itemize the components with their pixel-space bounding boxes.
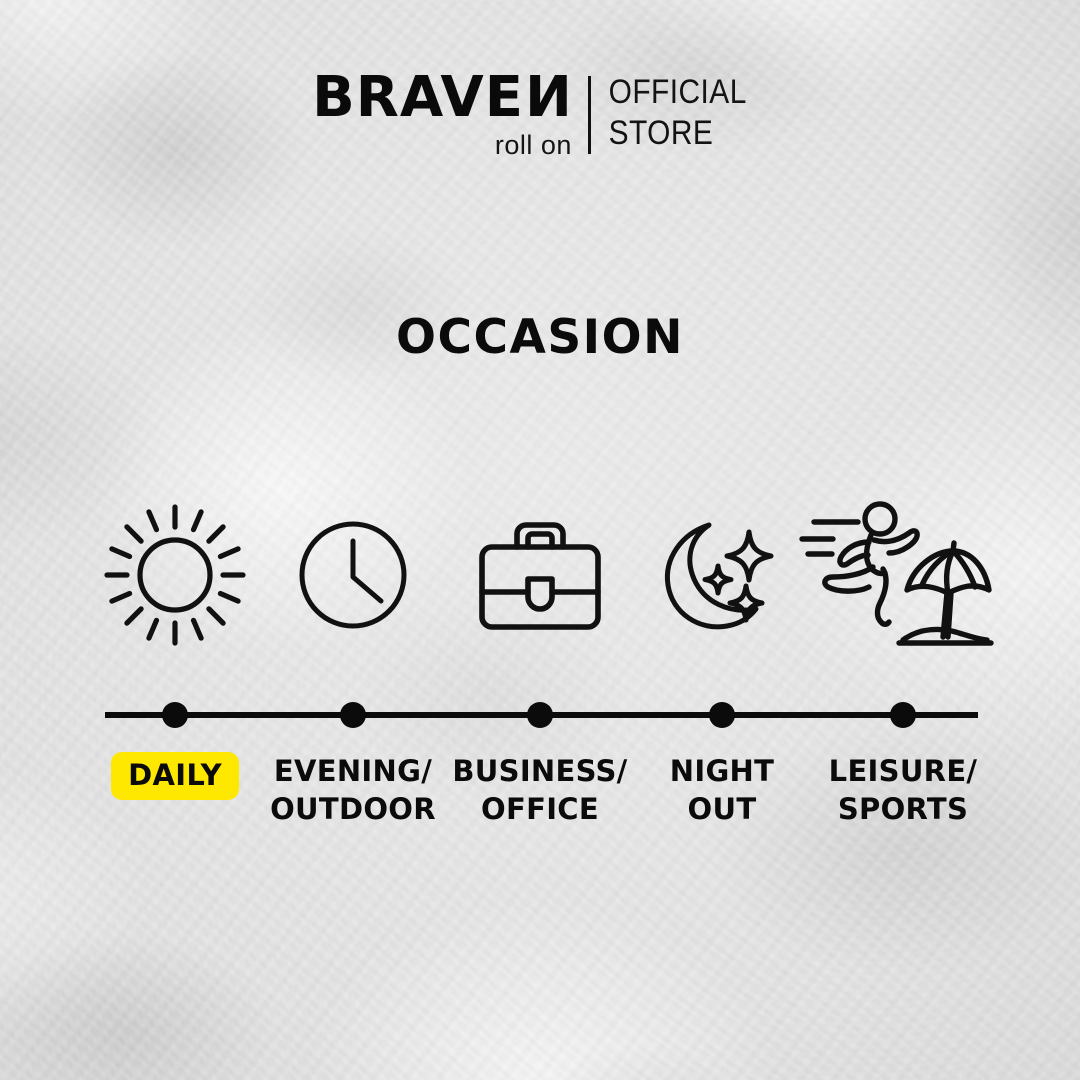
brand-header: BRAVEN roll on OFFICIAL STORE: [0, 72, 1080, 161]
official-store-line-1: OFFICIAL: [608, 72, 746, 113]
timeline-dot-evening-outdoor[interactable]: [340, 702, 366, 728]
timeline-dot-night-out[interactable]: [709, 702, 735, 728]
timeline-dot-business-office[interactable]: [527, 702, 553, 728]
timeline-dot-leisure-sports[interactable]: [890, 702, 916, 728]
timeline-label-daily-line-1: DAILY: [111, 752, 239, 800]
product-infographic-canvas: BRAVEN roll on OFFICIAL STORE OCCASION: [0, 0, 1080, 1080]
timeline-label-night-out-line-2: OUT: [617, 790, 827, 828]
briefcase-icon: [474, 514, 606, 636]
icon-slot-business-office: [445, 495, 635, 655]
brand-wordmark-text: BRAVE: [312, 72, 524, 124]
moon-stars-icon: [659, 514, 785, 636]
timeline-label-night-out-line-1: NIGHT: [617, 752, 827, 790]
timeline-label-business-office[interactable]: BUSINESS/ OFFICE: [435, 752, 645, 829]
brand-tagline: roll on: [495, 130, 572, 161]
brand-wordmark: BRAVEN: [312, 72, 572, 124]
runner-beach-umbrella-icon: [795, 497, 995, 653]
timeline-label-leisure-sports-line-2: SPORTS: [798, 790, 1008, 828]
timeline-label-leisure-sports-line-1: LEISURE/: [798, 752, 1008, 790]
clock-icon: [293, 515, 413, 635]
timeline-label-evening-outdoor-line-1: EVENING/: [248, 752, 458, 790]
icon-slot-evening-outdoor: [258, 495, 448, 655]
timeline-label-evening-outdoor-line-2: OUTDOOR: [248, 790, 458, 828]
brand-logo: BRAVEN roll on: [312, 72, 588, 161]
timeline-label-evening-outdoor[interactable]: EVENING/ OUTDOOR: [248, 752, 458, 829]
icon-slot-leisure-sports: [785, 495, 1005, 655]
timeline-label-night-out[interactable]: NIGHT OUT: [617, 752, 827, 829]
icon-slot-daily: [80, 495, 270, 655]
content-layer: BRAVEN roll on OFFICIAL STORE OCCASION: [0, 0, 1080, 1080]
timeline-label-business-office-line-2: OFFICE: [435, 790, 645, 828]
sun-icon: [95, 495, 255, 655]
timeline-dot-daily[interactable]: [162, 702, 188, 728]
official-store-badge: OFFICIAL STORE: [591, 72, 747, 155]
page-title: OCCASION: [0, 310, 1080, 365]
brand-wordmark-mirrored-n: N: [524, 72, 572, 124]
timeline-label-leisure-sports[interactable]: LEISURE/ SPORTS: [798, 752, 1008, 829]
official-store-line-2: STORE: [608, 113, 746, 154]
timeline-label-business-office-line-1: BUSINESS/: [435, 752, 645, 790]
